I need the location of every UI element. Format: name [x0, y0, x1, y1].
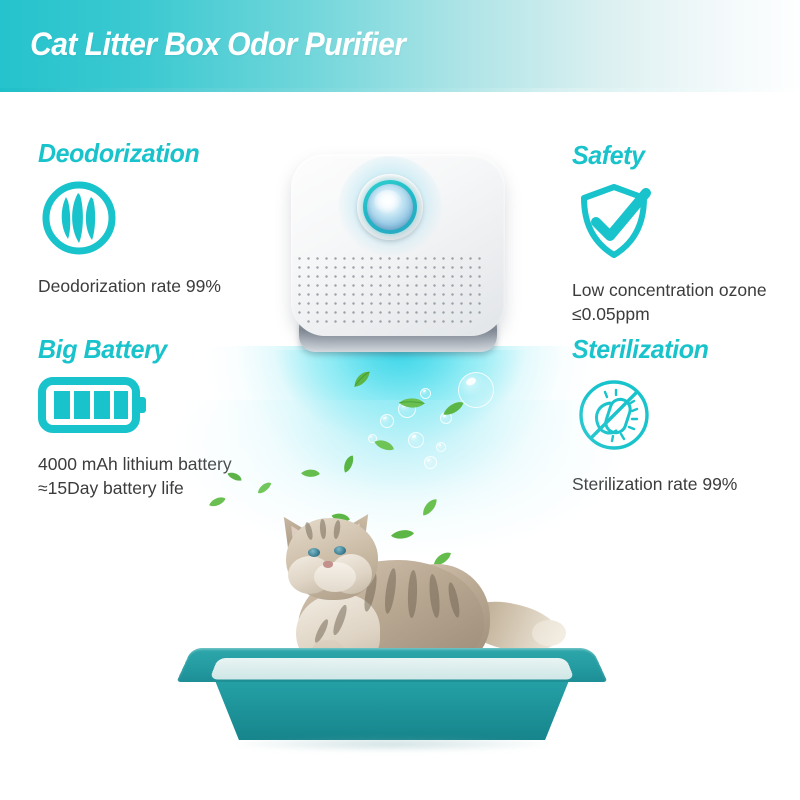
leaf-icon: [349, 368, 377, 394]
feature-sterilization: Sterilization Sterilization ra: [572, 334, 737, 496]
kitten-nose: [323, 561, 333, 568]
leaf-icon: [396, 392, 427, 419]
odor-purifier-device: [283, 148, 513, 363]
page-title: Cat Litter Box Odor Purifier: [0, 26, 405, 63]
bubble: [380, 414, 394, 428]
beam-core-glow: [250, 350, 550, 500]
feature-title-sterilization: Sterilization: [572, 334, 731, 365]
bubble: [368, 434, 377, 443]
leaf-icon: [369, 433, 397, 461]
bubble: [420, 388, 431, 399]
bubble: [436, 442, 446, 452]
bubble: [440, 412, 452, 424]
bubble: [398, 400, 416, 418]
litter-tray-body: [214, 678, 570, 740]
bubble: [424, 456, 437, 469]
feature-desc-sterilization: Sterilization rate 99%: [572, 472, 737, 496]
bubble: [408, 432, 424, 448]
header-divider: [0, 88, 800, 92]
litter-tray-interior: [209, 658, 574, 680]
air-vent-grille: [293, 252, 487, 326]
kitten-tail-tip: [532, 620, 566, 646]
kitten-eye-right: [334, 546, 346, 555]
feature-desc-big-battery: 4000 mAh lithium battery ≈15Day battery …: [38, 452, 232, 500]
kitten-muzzle: [314, 562, 356, 592]
header-banner: Cat Litter Box Odor Purifier: [0, 0, 800, 88]
leaf-icon: [298, 463, 323, 486]
litter-tray-shadow: [232, 736, 552, 752]
leaf-icon: [337, 452, 364, 479]
kitten-eye-left: [308, 548, 320, 557]
litter-tray: [192, 648, 592, 756]
feature-big-battery: Big Battery 4000 mAh lithium battery ≈15…: [38, 334, 232, 500]
battery-full-icon: [38, 373, 232, 442]
no-germ-icon: [572, 373, 737, 462]
leaf-icon: [253, 477, 276, 500]
odor-waves-icon: [38, 177, 221, 264]
feature-deodorization: Deodorization Deodorization rate 99%: [38, 138, 221, 298]
shield-check-icon: [572, 179, 767, 268]
feature-title-deodorization: Deodorization: [38, 138, 214, 169]
infographic-page: Cat Litter Box Odor Purifier Deodorizati…: [0, 0, 800, 800]
feature-title-big-battery: Big Battery: [38, 334, 224, 365]
bubble: [458, 372, 494, 408]
feature-title-safety: Safety: [572, 140, 759, 171]
feature-desc-safety: Low concentration ozone ≤0.05ppm: [572, 278, 767, 326]
power-button-highlight: [374, 190, 402, 214]
feature-safety: Safety Low concentration ozone ≤0.05ppm: [572, 140, 767, 326]
cat-scene: [180, 500, 620, 770]
feature-desc-deodorization: Deodorization rate 99%: [38, 274, 221, 298]
leaf-icon: [440, 400, 467, 423]
